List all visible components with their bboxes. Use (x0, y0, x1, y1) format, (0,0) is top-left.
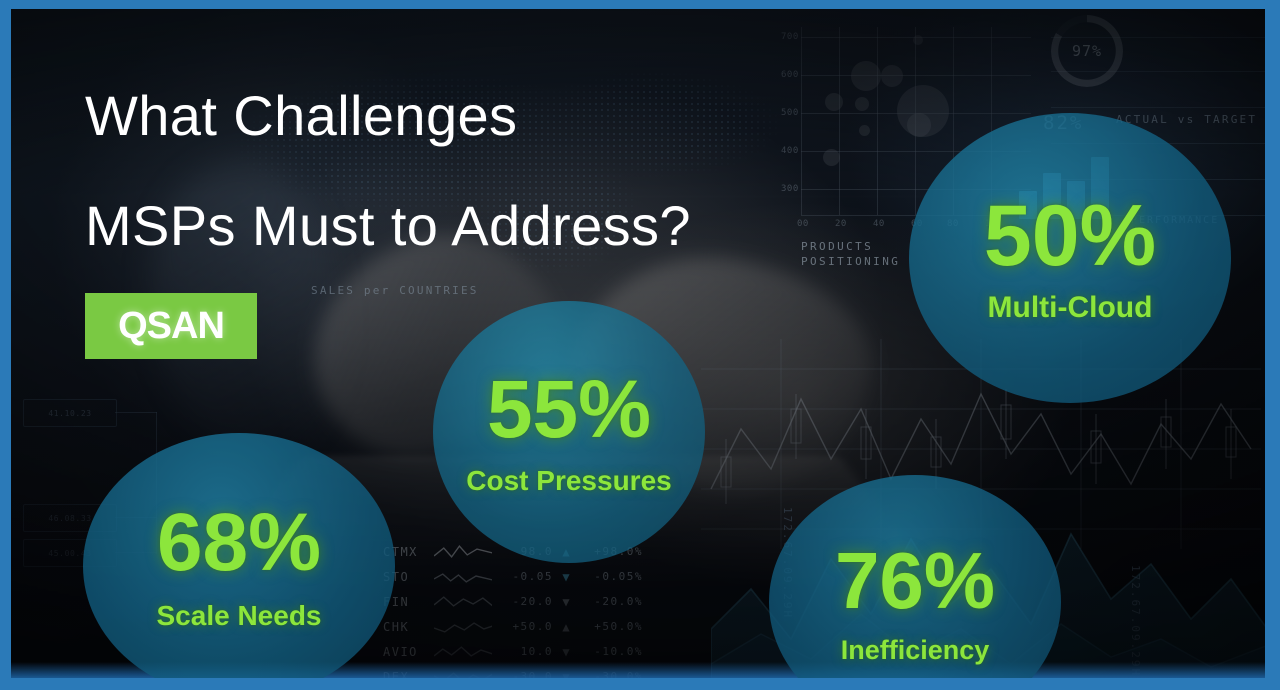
infographic-poster: 97% 700 600 500 400 300 00 20 40 60 80 (0, 0, 1280, 690)
stat-bubble-cost-pressures: 55% Cost Pressures (433, 301, 705, 563)
stat-label: Scale Needs (157, 602, 322, 630)
stat-value: 76% (835, 541, 995, 621)
stat-value: 55% (487, 369, 651, 451)
stat-bubble-scale-needs: 68% Scale Needs (83, 433, 395, 690)
page-title-line2: MSPs Must to Address? (85, 171, 905, 281)
qsan-logo: QSAN (85, 293, 257, 359)
stat-label: Cost Pressures (466, 467, 671, 495)
stat-value: 68% (157, 502, 321, 584)
stat-bubble-multi-cloud: 50% Multi-Cloud (909, 113, 1231, 403)
stat-value: 50% (984, 193, 1156, 279)
page-title-line1: What Challenges (85, 84, 517, 147)
stat-label: Inefficiency (841, 637, 990, 664)
page-title: What Challenges MSPs Must to Address? (85, 61, 905, 281)
qsan-logo-text: QSAN (118, 305, 224, 348)
stat-label: Multi-Cloud (988, 293, 1153, 323)
